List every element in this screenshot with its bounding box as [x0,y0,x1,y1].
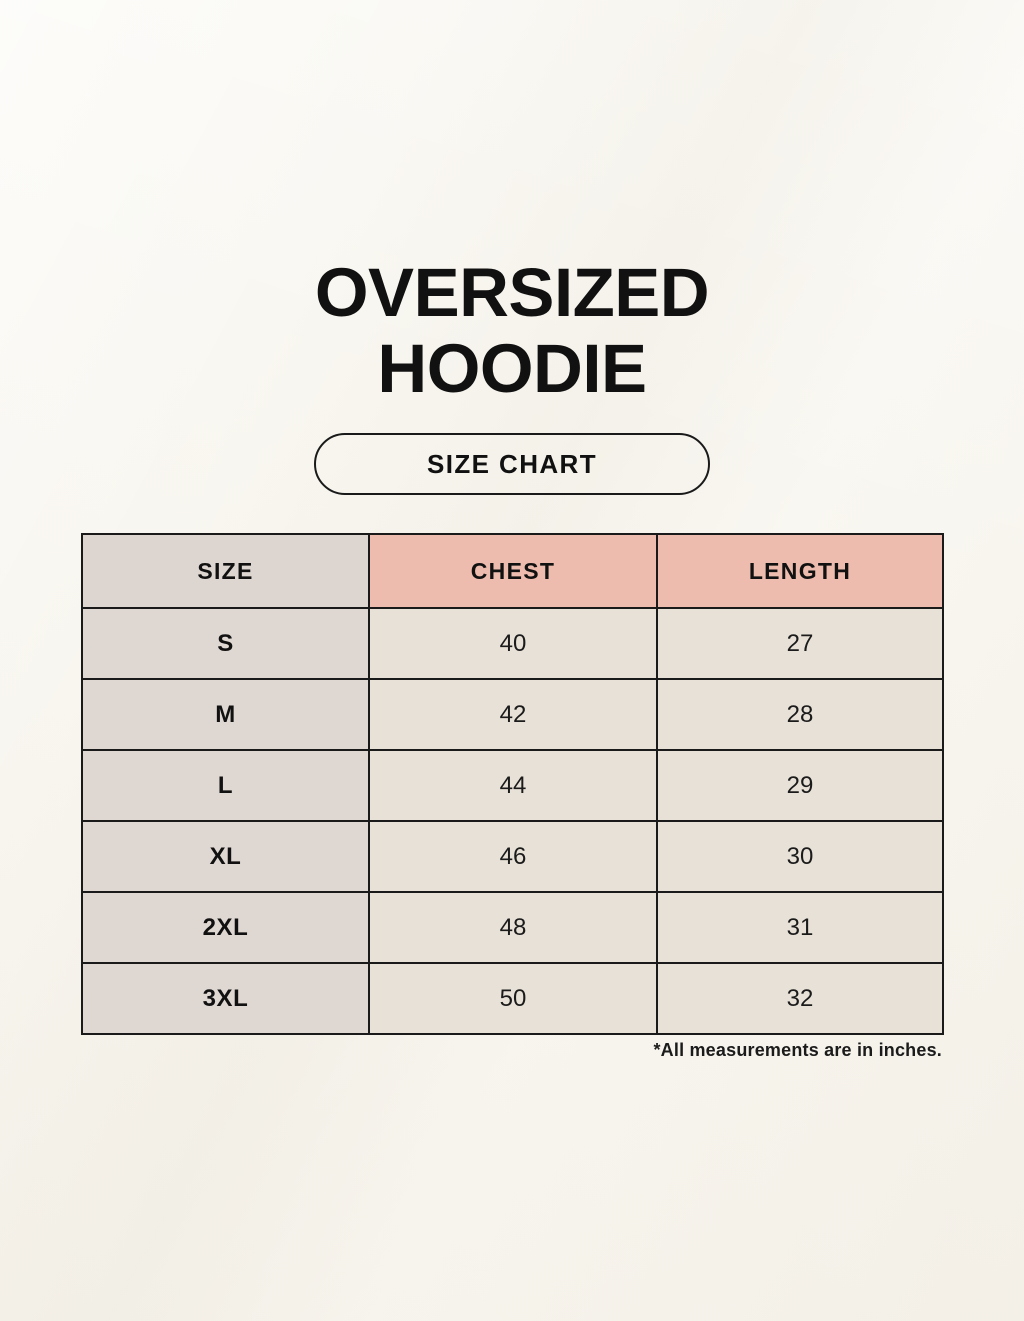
table-row: XL 46 30 [82,821,943,892]
cell-chest: 40 [369,608,657,679]
cell-length: 32 [657,963,943,1034]
cell-length: 31 [657,892,943,963]
size-table-head: SIZE CHEST LENGTH [82,534,943,608]
cell-length: 28 [657,679,943,750]
column-header-chest: CHEST [369,534,657,608]
size-table: SIZE CHEST LENGTH S 40 27 M 42 28 L [81,533,944,1035]
table-row: M 42 28 [82,679,943,750]
cell-chest: 42 [369,679,657,750]
badge-container: SIZE CHART [0,433,1024,495]
size-table-container: SIZE CHEST LENGTH S 40 27 M 42 28 L [81,533,942,1035]
table-row: S 40 27 [82,608,943,679]
cell-size: 3XL [82,963,369,1034]
table-row: 3XL 50 32 [82,963,943,1034]
cell-size: 2XL [82,892,369,963]
column-header-size: SIZE [82,534,369,608]
table-header-row: SIZE CHEST LENGTH [82,534,943,608]
measurements-footnote: *All measurements are in inches. [81,1040,942,1061]
cell-chest: 46 [369,821,657,892]
cell-size: XL [82,821,369,892]
cell-chest: 48 [369,892,657,963]
title-line-2: HOODIE [0,334,1024,403]
page-title: OVERSIZED HOODIE [0,258,1024,403]
cell-size: S [82,608,369,679]
table-row: 2XL 48 31 [82,892,943,963]
table-row: L 44 29 [82,750,943,821]
title-line-1: OVERSIZED [0,258,1024,327]
cell-length: 30 [657,821,943,892]
cell-chest: 50 [369,963,657,1034]
size-chart-badge: SIZE CHART [314,433,710,495]
cell-size: L [82,750,369,821]
cell-size: M [82,679,369,750]
size-table-body: S 40 27 M 42 28 L 44 29 XL 46 30 [82,608,943,1034]
cell-length: 27 [657,608,943,679]
cell-length: 29 [657,750,943,821]
cell-chest: 44 [369,750,657,821]
size-chart-badge-label: SIZE CHART [427,449,597,480]
column-header-length: LENGTH [657,534,943,608]
size-chart-page: OVERSIZED HOODIE SIZE CHART SIZE CHEST L… [0,0,1024,1321]
